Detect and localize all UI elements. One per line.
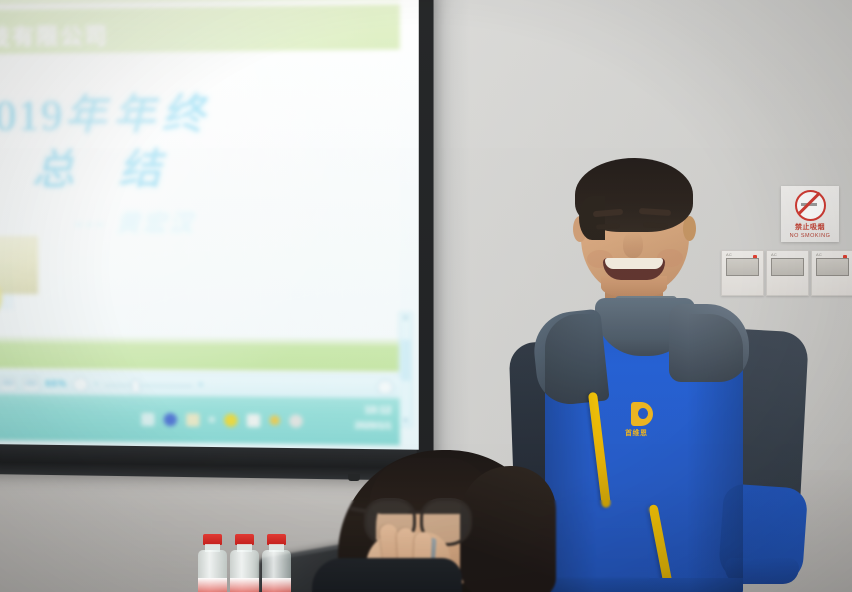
water-bottle xyxy=(196,534,230,592)
zoom-out-button[interactable]: − xyxy=(93,379,100,390)
taskbar-clock[interactable]: 10:12 2020/1/1 xyxy=(355,403,392,434)
browser-icon[interactable] xyxy=(164,412,177,425)
water-bottle xyxy=(228,534,262,592)
bottle-label xyxy=(262,578,291,592)
zoom-slider-thumb[interactable] xyxy=(131,379,140,393)
seated-attendee xyxy=(330,440,590,592)
slide-scrollbar[interactable]: ▲ ▼ xyxy=(399,312,413,427)
taskbar-time: 10:12 xyxy=(355,403,392,419)
taskbar-date: 2020/1/1 xyxy=(355,418,392,434)
scrollbar-thumb[interactable] xyxy=(401,340,410,381)
slide-title-line1: 2019年年终 xyxy=(0,80,235,143)
jacket-logo: 首维恩 xyxy=(629,402,663,440)
presentation-slide: 科技有限公司 2019年年终 总 结 --- 黄宏汉 xyxy=(0,0,400,372)
slide-title-line1-cn: 年年终 xyxy=(64,90,211,139)
glasses-bridge xyxy=(408,511,424,514)
slide-title-year: 2019 xyxy=(0,93,64,140)
bottle-label xyxy=(230,578,259,592)
scroll-up-arrow-icon[interactable]: ▲ xyxy=(402,314,409,321)
slide-company-name: 科技有限公司 xyxy=(0,18,109,52)
view-reading-button[interactable] xyxy=(22,376,40,391)
explorer-icon[interactable] xyxy=(186,413,199,426)
taskview-icon[interactable] xyxy=(141,412,154,425)
chat-icon[interactable] xyxy=(289,414,302,427)
slide-title-line2: 总 结 xyxy=(32,135,178,197)
zoom-slider[interactable] xyxy=(105,384,193,387)
projector-screen-surface: 科技有限公司 2019年年终 总 结 --- 黄宏汉 ▲ xyxy=(0,0,419,450)
presenter-ear-right xyxy=(683,216,696,241)
projector-screen: 科技有限公司 2019年年终 总 结 --- 黄宏汉 ▲ xyxy=(0,0,434,479)
slide-bottom-band xyxy=(0,342,400,372)
view-slide-sorter-button[interactable] xyxy=(0,376,17,391)
fit-to-window-button[interactable] xyxy=(72,377,88,392)
small-app-icon[interactable] xyxy=(209,417,215,423)
windows-taskbar: 10:12 2020/1/1 xyxy=(0,394,400,446)
presenter-smile xyxy=(603,258,665,280)
water-bottle xyxy=(260,534,294,592)
full-screen-button[interactable] xyxy=(377,380,394,396)
document-icon[interactable] xyxy=(247,413,260,426)
presenter-nose xyxy=(623,232,643,258)
bottle-label xyxy=(198,578,227,592)
presenter-hair xyxy=(575,158,693,232)
photo-scene: 禁止吸烟 NO SMOKING AC AC AC xyxy=(0,0,852,592)
attendee-shoulder xyxy=(312,558,462,592)
slide-decoration-photo xyxy=(0,236,38,294)
status-spacer xyxy=(209,386,371,388)
presenter-teeth xyxy=(605,258,663,269)
jacket-shoulder-right xyxy=(669,304,749,382)
jacket-logo-text: 首维恩 xyxy=(625,428,648,438)
company-logo-icon xyxy=(631,402,653,426)
scroll-down-arrow-icon[interactable]: ▼ xyxy=(402,418,409,425)
zoom-level-label: 66% xyxy=(45,379,67,390)
zoom-in-button[interactable]: + xyxy=(197,380,204,391)
media-icon[interactable] xyxy=(224,413,237,426)
slide-author-line: --- 黄宏汉 xyxy=(74,204,195,238)
notes-icon[interactable] xyxy=(270,415,280,425)
